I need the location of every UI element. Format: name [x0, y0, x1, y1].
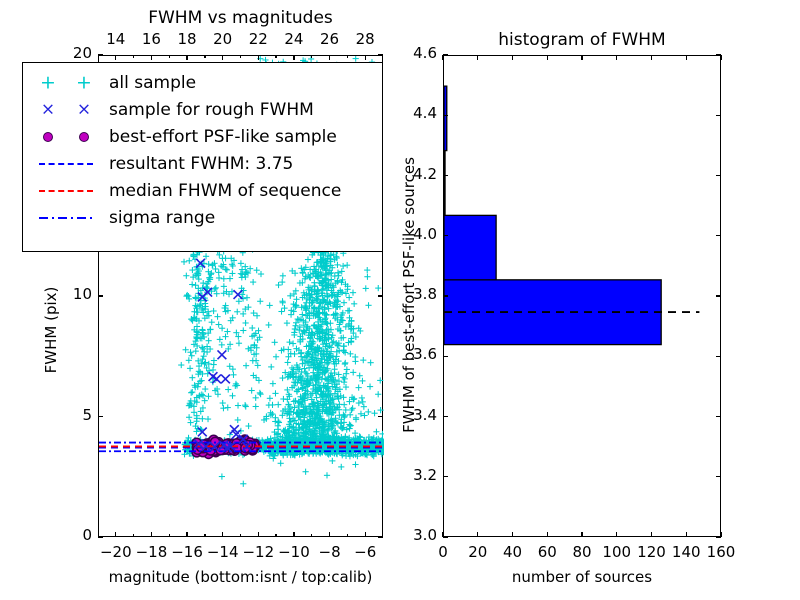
axis-tick: [512, 532, 513, 537]
axis-tick: [443, 356, 448, 357]
axis-tick: [151, 532, 152, 537]
axis-tick: [547, 532, 548, 537]
y-tick-label-histogram: 3.2: [393, 466, 437, 484]
cross-marker-icon: ×: [77, 101, 91, 118]
axis-tick: [151, 55, 152, 60]
legend-marker: ××: [31, 96, 105, 123]
legend-marker: [31, 150, 105, 177]
axis-tick: [275, 534, 276, 537]
axis-tick: [443, 416, 448, 417]
plus-marker-icon: +: [40, 73, 56, 92]
axis-tick: [716, 54, 721, 55]
axis-tick: [477, 55, 478, 60]
x-tick-label-top: 28: [343, 30, 387, 48]
axis-tick: [204, 534, 205, 537]
dashed-line-icon: [39, 163, 93, 165]
legend-marker: [31, 177, 105, 204]
axis-tick: [98, 54, 103, 55]
histogram-bar: [444, 215, 496, 279]
axis-tick: [378, 536, 383, 537]
left-panel-xlabel: magnitude (bottom:isnt / top:calib): [98, 568, 383, 586]
histogram-bar: [444, 86, 447, 150]
axis-tick: [720, 55, 721, 60]
axis-tick: [169, 534, 170, 537]
axis-tick: [258, 55, 259, 60]
legend-item: sigma range: [31, 204, 372, 231]
dot-marker-icon: [79, 132, 89, 142]
axis-tick: [311, 534, 312, 537]
histogram-bars: [444, 86, 661, 344]
axis-tick: [115, 55, 116, 60]
plus-marker-icon: +: [76, 73, 92, 92]
legend-marker: [31, 204, 105, 231]
y-tick-label-histogram: 4.2: [393, 165, 437, 183]
axis-tick: [378, 54, 383, 55]
figure-canvas: FWHM vs magnitudes magnitude (bottom:isn…: [0, 0, 800, 600]
axis-tick: [716, 356, 721, 357]
legend-item: best-effort PSF-like sample: [31, 123, 372, 150]
legend-marker: ++: [31, 69, 105, 96]
legend-item-label: sigma range: [105, 208, 215, 228]
dot-marker-icon: [43, 132, 53, 142]
axis-tick: [716, 476, 721, 477]
axis-tick: [258, 532, 259, 537]
right-panel-xlabel: number of sources: [443, 568, 721, 586]
x-tick-label-bottom: −6: [343, 543, 387, 561]
axis-tick: [442, 55, 443, 60]
axis-tick: [616, 532, 617, 537]
y-tick-label-histogram: 4.0: [393, 225, 437, 243]
axis-tick: [378, 295, 383, 296]
legend-item: resultant FWHM: 3.75: [31, 150, 372, 177]
axis-tick: [443, 476, 448, 477]
axis-tick: [98, 295, 103, 296]
axis-tick: [716, 235, 721, 236]
legend-item: ++all sample: [31, 69, 372, 96]
axis-tick: [169, 55, 170, 58]
axis-tick: [716, 115, 721, 116]
histogram-bar: [444, 151, 445, 216]
plot-legend: ++all sample××sample for rough FWHMbest-…: [22, 62, 383, 252]
axis-tick: [98, 416, 103, 417]
axis-tick: [716, 295, 721, 296]
axis-tick: [581, 55, 582, 60]
histogram-of-fwhm-axes: [443, 55, 721, 537]
y-tick-label-histogram: 3.8: [393, 285, 437, 303]
y-tick-label-histogram: 3.6: [393, 345, 437, 363]
axis-tick: [347, 55, 348, 58]
left-panel-title: FWHM vs magnitudes: [98, 8, 383, 28]
legend-item-label: sample for rough FWHM: [105, 100, 314, 120]
y-tick-label-histogram: 3.0: [393, 526, 437, 544]
y-tick-label-left: 0: [52, 526, 92, 544]
axis-tick: [686, 55, 687, 60]
legend-marker: [31, 123, 105, 150]
legend-item-label: best-effort PSF-like sample: [105, 127, 337, 147]
axis-tick: [329, 532, 330, 537]
axis-tick: [329, 55, 330, 60]
axis-tick: [443, 235, 448, 236]
axis-tick: [240, 55, 241, 58]
axis-tick: [443, 175, 448, 176]
axis-tick: [222, 532, 223, 537]
y-tick-label-histogram: 3.4: [393, 406, 437, 424]
axis-tick: [275, 55, 276, 58]
axis-tick: [547, 55, 548, 60]
axis-tick: [293, 55, 294, 60]
axis-tick: [443, 115, 448, 116]
axis-tick: [347, 534, 348, 537]
axis-tick: [616, 55, 617, 60]
axis-tick: [98, 536, 103, 537]
axis-tick: [686, 532, 687, 537]
legend-item: median FHWM of sequence: [31, 177, 372, 204]
axis-tick: [133, 534, 134, 537]
y-tick-label-left: 20: [52, 44, 92, 62]
y-tick-label-left: 5: [52, 406, 92, 424]
axis-tick: [365, 532, 366, 537]
axis-tick: [512, 55, 513, 60]
axis-tick: [716, 536, 721, 537]
axis-tick: [378, 416, 383, 417]
axis-tick: [204, 55, 205, 58]
legend-item: ××sample for rough FWHM: [31, 96, 372, 123]
right-panel-title: histogram of FWHM: [443, 30, 721, 50]
axis-tick: [186, 532, 187, 537]
axis-tick: [651, 532, 652, 537]
dashed-line-icon: [39, 190, 93, 192]
axis-tick: [115, 532, 116, 537]
axis-tick: [716, 416, 721, 417]
axis-tick: [443, 295, 448, 296]
legend-item-label: resultant FWHM: 3.75: [105, 154, 293, 174]
axis-tick: [240, 534, 241, 537]
axis-tick: [293, 532, 294, 537]
axis-tick: [581, 532, 582, 537]
axis-tick: [651, 55, 652, 60]
axis-tick: [716, 175, 721, 176]
axis-tick: [133, 55, 134, 58]
y-tick-label-histogram: 4.6: [393, 44, 437, 62]
axis-tick: [186, 55, 187, 60]
histogram-canvas: [444, 56, 722, 538]
y-tick-label-histogram: 4.4: [393, 104, 437, 122]
axis-tick: [443, 536, 448, 537]
x-tick-label-histogram: 160: [699, 543, 743, 561]
axis-tick: [477, 532, 478, 537]
axis-tick: [365, 55, 366, 60]
legend-item-label: median FHWM of sequence: [105, 181, 341, 201]
axis-tick: [443, 54, 448, 55]
axis-tick: [311, 55, 312, 58]
y-tick-label-left: 10: [52, 285, 92, 303]
cross-marker-icon: ×: [41, 101, 55, 118]
legend-item-label: all sample: [105, 73, 196, 93]
axis-tick: [222, 55, 223, 60]
